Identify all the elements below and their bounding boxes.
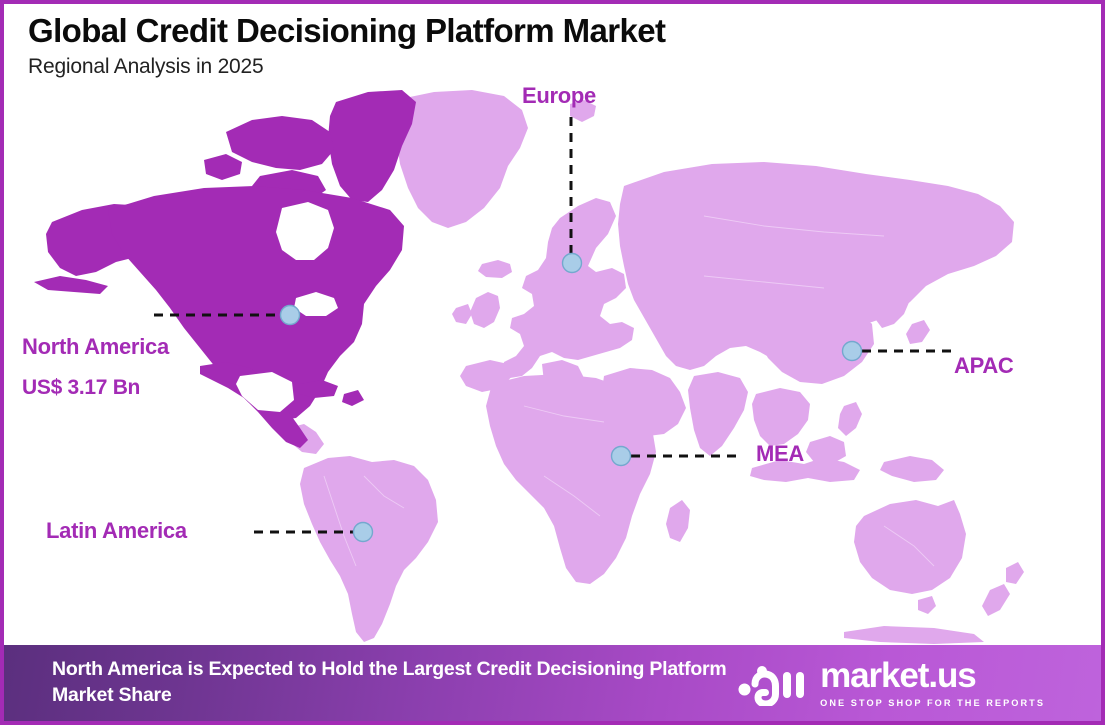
map-shape-new-zealand — [982, 562, 1024, 616]
logo-text-block: market.us ONE STOP SHOP FOR THE REPORTS — [820, 658, 1045, 708]
header: Global Credit Decisioning Platform Marke… — [28, 12, 665, 79]
map-marker-europe[interactable] — [563, 254, 582, 273]
footer-banner: North America is Expected to Hold the La… — [4, 645, 1101, 721]
map-shape-southeast-asia — [752, 388, 810, 446]
brand-logo[interactable]: market.us ONE STOP SHOP FOR THE REPORTS — [737, 658, 1045, 708]
map-shape-borneo — [806, 436, 846, 464]
region-name-apac: APAC — [954, 353, 1014, 379]
map-marker-north-america[interactable] — [281, 306, 300, 325]
region-value-north-america: US$ 3.17 Bn — [22, 376, 169, 400]
map-shape-europe — [502, 198, 634, 378]
map-marker-mea[interactable] — [612, 447, 631, 466]
region-name-north-america: North America — [22, 334, 169, 360]
map-marker-latin-america[interactable] — [354, 523, 373, 542]
map-shape-philippines — [838, 402, 862, 436]
region-name-mea: MEA — [756, 441, 804, 467]
map-shape-india — [688, 372, 748, 456]
map-shape-tasmania — [918, 596, 936, 614]
map-shape-british-isles — [452, 292, 500, 328]
page-subtitle: Regional Analysis in 2025 — [28, 55, 665, 79]
map-marker-apac[interactable] — [843, 342, 862, 361]
banner-headline: North America is Expected to Hold the La… — [52, 657, 737, 708]
map-shape-iceland — [478, 260, 512, 278]
map-shape-australia — [854, 500, 966, 594]
map-shape-aleutians — [34, 276, 108, 294]
infographic-root: Global Credit Decisioning Platform Marke… — [0, 0, 1105, 725]
market-us-logo-mark-icon — [737, 660, 809, 706]
logo-tagline: ONE STOP SHOP FOR THE REPORTS — [820, 698, 1045, 708]
map-region-base-lands — [288, 90, 1024, 644]
region-name-europe: Europe — [522, 83, 596, 109]
map-shape-new-guinea — [880, 456, 944, 482]
page-title: Global Credit Decisioning Platform Marke… — [28, 12, 665, 50]
logo-wordmark: market.us — [820, 658, 1045, 693]
map-shape-antarctica-fringe — [844, 626, 984, 644]
region-label-europe[interactable]: Europe — [522, 83, 596, 109]
region-label-latin-america[interactable]: Latin America — [46, 518, 187, 544]
map-shape-south-america — [300, 456, 438, 642]
region-name-latin-america: Latin America — [46, 518, 187, 544]
region-label-mea[interactable]: MEA — [756, 441, 804, 467]
map-shape-africa — [486, 374, 656, 584]
map-shape-greenland — [396, 90, 528, 228]
region-label-apac[interactable]: APAC — [954, 353, 1014, 379]
map-shape-madagascar — [666, 500, 690, 542]
region-label-north-america[interactable]: North America US$ 3.17 Bn — [22, 334, 169, 400]
